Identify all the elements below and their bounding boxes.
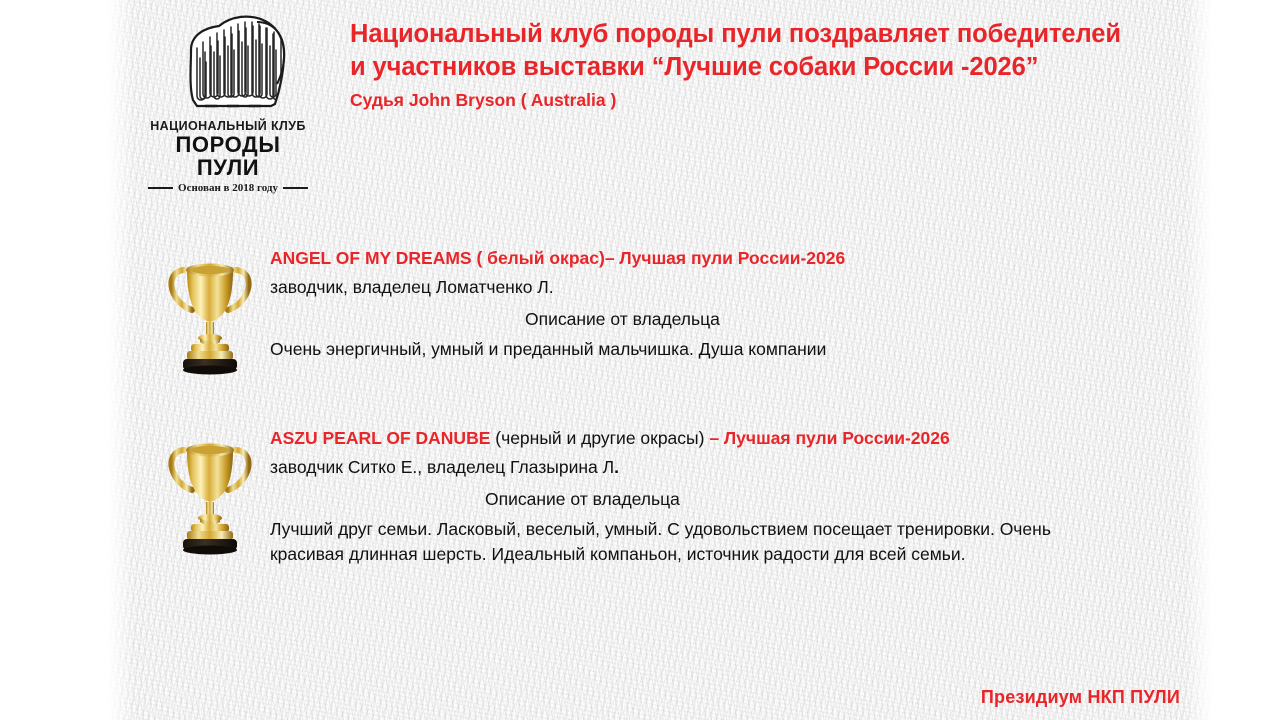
page-title: Национальный клуб породы пули поздравляе… xyxy=(350,18,1140,84)
trophy-icon xyxy=(160,248,260,376)
description-text: Очень энергичный, умный и преданный маль… xyxy=(270,337,1070,362)
logo-line-1: НАЦИОНАЛЬНЫЙ КЛУБ xyxy=(148,119,308,133)
award-entry-body: ASZU PEARL OF DANUBE (черный и другие ок… xyxy=(270,428,1160,567)
puli-dog-icon xyxy=(148,6,308,118)
award-entry: ANGEL OF MY DREAMS ( белый окрас)– Лучша… xyxy=(160,248,1160,362)
breeder-owner-line: заводчик Ситко Е., владелец Глазырина Л. xyxy=(270,456,1160,480)
logo-rule-right xyxy=(283,187,308,189)
header-block: Национальный клуб породы пули поздравляе… xyxy=(350,18,1140,111)
footer-signature: Президиум НКП ПУЛИ xyxy=(981,687,1180,708)
paper-edge-fade-right xyxy=(1186,0,1212,720)
award-headline: ASZU PEARL OF DANUBE (черный и другие ок… xyxy=(270,428,1160,450)
dog-name: ANGEL OF MY DREAMS ( белый окрас) xyxy=(270,248,605,268)
award-title: – Лучшая пули России-2026 xyxy=(709,428,949,448)
paper-edge-fade-left xyxy=(108,0,134,720)
logo-rule-left xyxy=(148,187,173,189)
logo-founded-row: Основан в 2018 году xyxy=(148,182,308,194)
breeder-owner-text: заводчик Ситко Е., владелец Глазырина Л xyxy=(270,457,614,477)
slide-root: НАЦИОНАЛЬНЫЙ КЛУБ ПОРОДЫ ПУЛИ Основан в … xyxy=(0,0,1280,720)
logo-founded-text: Основан в 2018 году xyxy=(178,182,278,194)
trophy-icon xyxy=(160,428,260,556)
description-text: Лучший друг семьи. Ласковый, веселый, ум… xyxy=(270,517,1070,567)
award-title: – Лучшая пули России-2026 xyxy=(605,248,845,268)
description-heading: Описание от владельца xyxy=(270,308,1160,332)
breeder-owner-line: заводчик, владелец Ломатченко Л. xyxy=(270,276,1160,300)
logo-line-2: ПОРОДЫ ПУЛИ xyxy=(148,133,308,179)
color-note: (черный и другие окрасы) xyxy=(490,428,709,448)
award-headline: ANGEL OF MY DREAMS ( белый окрас)– Лучша… xyxy=(270,248,1160,270)
breeder-owner-period: . xyxy=(614,457,619,477)
description-heading: Описание от владельца xyxy=(270,488,1160,512)
club-logo: НАЦИОНАЛЬНЫЙ КЛУБ ПОРОДЫ ПУЛИ Основан в … xyxy=(148,6,308,178)
dog-name: ASZU PEARL OF DANUBE xyxy=(270,428,490,448)
award-entry-body: ANGEL OF MY DREAMS ( белый окрас)– Лучша… xyxy=(270,248,1160,362)
judge-line: Судья John Bryson ( Australia ) xyxy=(350,90,1140,111)
award-entry: ASZU PEARL OF DANUBE (черный и другие ок… xyxy=(160,428,1160,567)
